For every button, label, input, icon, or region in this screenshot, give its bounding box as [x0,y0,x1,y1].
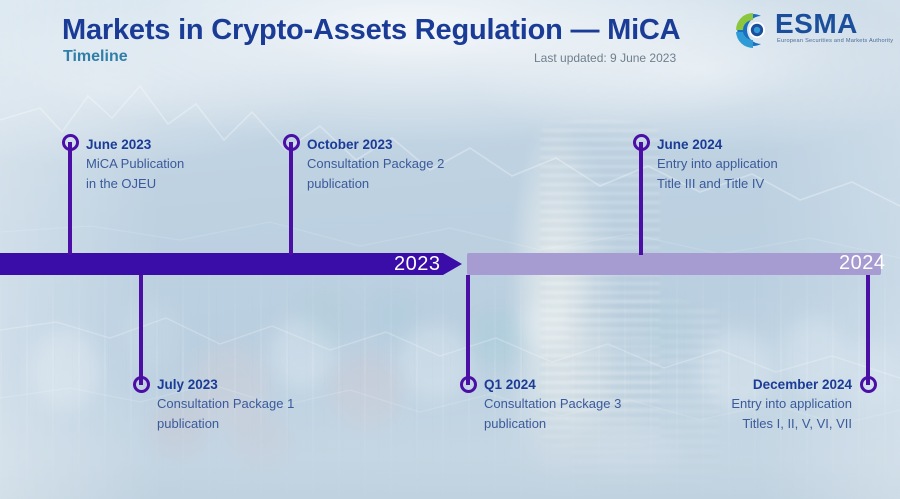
milestone-label: July 2023 Consultation Package 1 publica… [157,376,294,434]
milestone-stem [639,142,643,255]
timeline-year-2024: 2024 [839,252,886,275]
milestone-line-2: in the OJEU [86,174,184,194]
milestone-line-1: Entry into application [657,154,778,174]
milestone-line-1: Consultation Package 2 [307,154,444,174]
milestone-line-1: Consultation Package 3 [484,394,621,414]
milestone-stem [139,275,143,385]
milestone-line-2: publication [484,414,621,434]
milestone-date: Q1 2024 [484,376,621,394]
milestone-stem [289,142,293,255]
milestone-line-2: publication [307,174,444,194]
esma-wordmark: ESMA [775,8,858,40]
timeline-bar [0,253,900,275]
milestone-dot [283,134,300,151]
milestone-stem [68,142,72,255]
header: Markets in Crypto-Assets Regulation — Mi… [0,0,900,80]
milestone-line-1: Entry into application [606,394,852,414]
milestone-dot [133,376,150,393]
esma-logo: ESMA European Securities and Markets Aut… [731,8,881,54]
milestone-label: June 2023 MiCA Publication in the OJEU [86,136,184,194]
milestone-label: December 2024 Entry into application Tit… [606,376,852,434]
last-updated-text: Last updated: 9 June 2023 [534,51,676,65]
milestone-label: June 2024 Entry into application Title I… [657,136,778,194]
milestone-line-1: Consultation Package 1 [157,394,294,414]
milestone-line-1: MiCA Publication [86,154,184,174]
page-subtitle: Timeline [63,48,128,66]
timeline-year-2023: 2023 [394,253,441,276]
milestone-date: October 2023 [307,136,444,154]
milestone-label: October 2023 Consultation Package 2 publ… [307,136,444,194]
milestone-stem [866,275,870,385]
milestone-line-2: Titles I, II, V, VI, VII [606,414,852,434]
page-title: Markets in Crypto-Assets Regulation — Mi… [62,14,680,47]
milestone-line-2: publication [157,414,294,434]
esma-logo-icon [731,10,771,50]
milestone-date: June 2023 [86,136,184,154]
timeline-segment-past [0,253,462,275]
milestone-stem [466,275,470,385]
milestone-dot [62,134,79,151]
milestone-date: December 2024 [606,376,852,394]
milestone-date: June 2024 [657,136,778,154]
mica-timeline-infographic: Markets in Crypto-Assets Regulation — Mi… [0,0,900,499]
esma-tagline: European Securities and Markets Authorit… [777,38,893,44]
timeline-segment-future [467,253,881,275]
milestone-dot [460,376,477,393]
milestone-dot [860,376,877,393]
milestone-dot [633,134,650,151]
milestone-line-2: Title III and Title IV [657,174,778,194]
milestone-date: July 2023 [157,376,294,394]
milestone-label: Q1 2024 Consultation Package 3 publicati… [484,376,621,434]
